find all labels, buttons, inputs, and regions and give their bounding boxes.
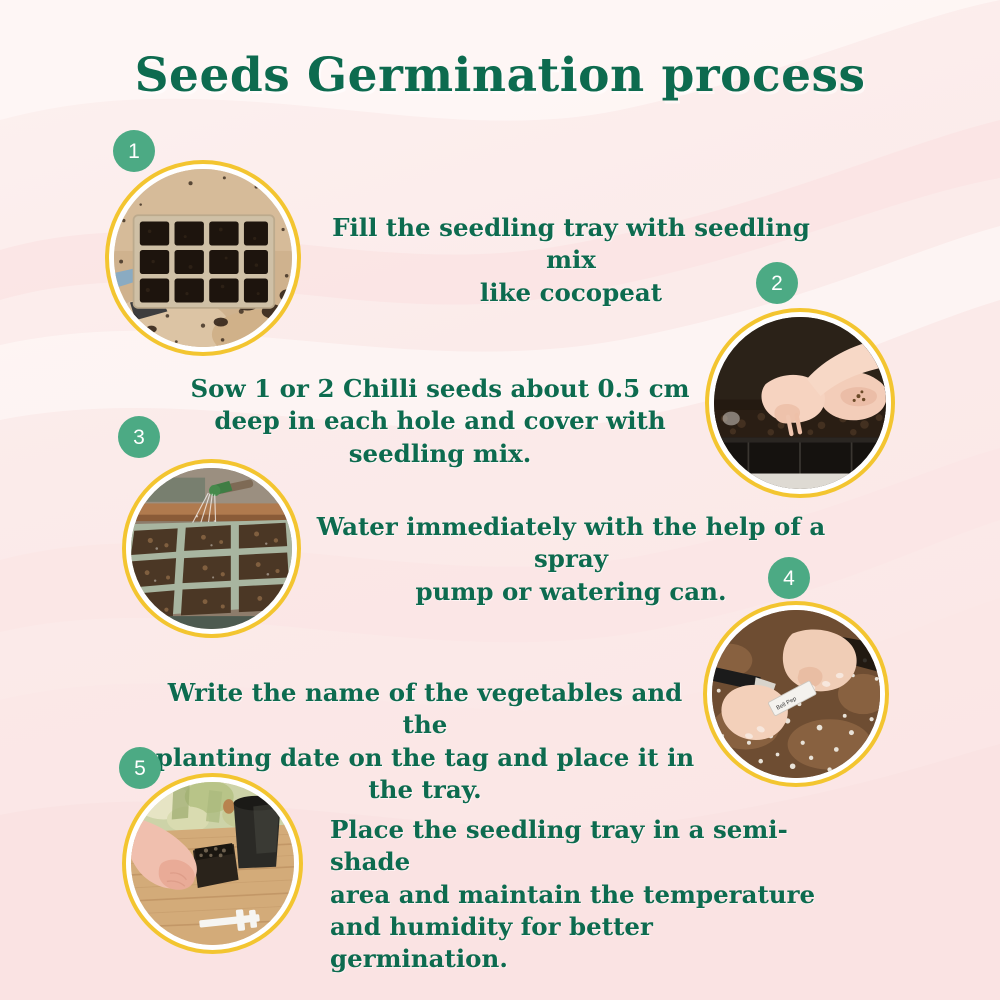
photo-hands-sowing-seeds: [705, 308, 895, 498]
step-badge-2: 2: [756, 262, 798, 304]
photo-inner-1: [114, 169, 292, 347]
step-badge-4: 4: [768, 557, 810, 599]
step-badge-1: 1: [113, 130, 155, 172]
photo-seedling-tray-cells: [105, 160, 301, 356]
step-text-3: Water immediately with the help of a spr…: [308, 511, 834, 608]
photo-inner-3: [131, 468, 292, 629]
step-text-1: Fill the seedling tray with seedling mix…: [318, 212, 824, 309]
page-title: Seeds Germination process: [0, 48, 1000, 103]
photo-spraying-water: [122, 459, 301, 638]
photo-inner-2: [714, 317, 886, 489]
image-spraying-water: [131, 468, 292, 629]
photo-inner-5: [131, 782, 294, 945]
step-text-5: Place the seedling tray in a semi-shade …: [330, 814, 830, 976]
image-seedling-tray-cells: [114, 169, 292, 347]
step-text-2: Sow 1 or 2 Chilli seeds about 0.5 cm dee…: [188, 373, 692, 470]
step-number-3: 3: [133, 427, 145, 448]
photo-writing-plant-tag: Bell Pep: [703, 601, 889, 787]
photo-placing-tray-on-bench: [122, 773, 303, 954]
step-badge-5: 5: [119, 747, 161, 789]
step-number-4: 4: [783, 568, 795, 589]
image-writing-plant-tag: Bell Pep: [712, 610, 880, 778]
step-number-1: 1: [128, 141, 140, 162]
step-number-5: 5: [134, 758, 146, 779]
step-number-2: 2: [771, 273, 783, 294]
image-placing-tray-on-bench: [131, 782, 294, 945]
step-badge-3: 3: [118, 416, 160, 458]
photo-inner-4: Bell Pep: [712, 610, 880, 778]
infographic-poster: Seeds Germination process 1: [0, 0, 1000, 1000]
image-hands-sowing-seeds: [714, 317, 886, 489]
